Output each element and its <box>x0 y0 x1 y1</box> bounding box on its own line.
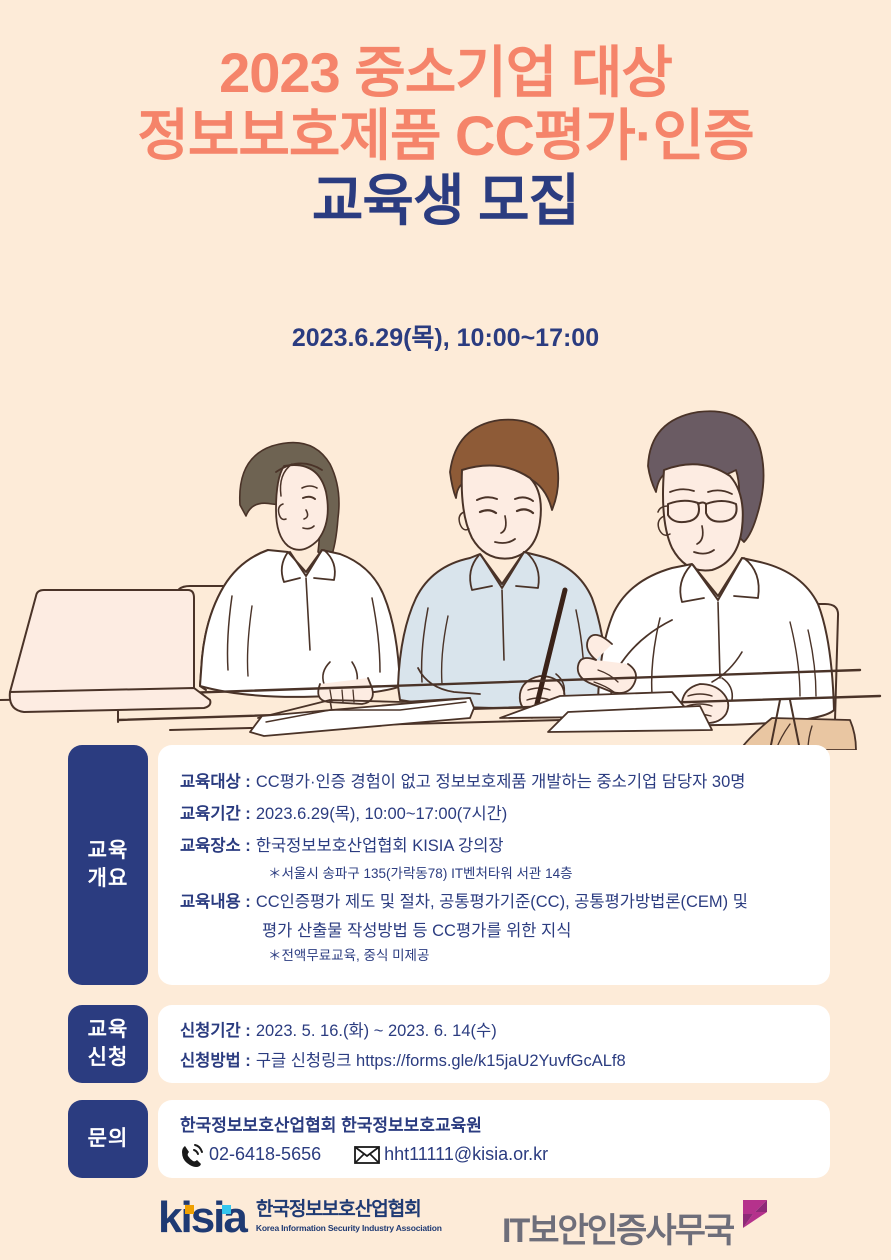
section-overview-label: 교육 개요 <box>68 745 148 985</box>
section-application-label: 교육 신청 <box>68 1005 148 1083</box>
section-application-card: 신청기간 : 2023. 5. 16.(화) ~ 2023. 6. 14(수) … <box>158 1005 830 1083</box>
section-contact-label-line1: 문의 <box>88 1125 129 1153</box>
title-line-1: 2023 중소기업 대상 <box>0 44 891 101</box>
section-overview-label-line1: 교육 <box>88 839 129 862</box>
kisia-name-english: Korea Information Security Industry Asso… <box>256 1223 442 1233</box>
overview-row-target: 교육대상 : CC평가·인증 경험이 없고 정보보호제품 개발하는 중소기업 담… <box>180 768 814 792</box>
itsec-wordmark: IT보안인증사무국 <box>502 1214 733 1248</box>
section-contact: 문의 한국정보보호산업협회 한국정보보호교육원 02-6418-5656 <box>68 1100 830 1178</box>
kisia-dot-orange-icon <box>185 1205 194 1214</box>
section-contact-label: 문의 <box>68 1100 148 1178</box>
section-application: 교육 신청 신청기간 : 2023. 5. 16.(화) ~ 2023. 6. … <box>68 1005 830 1083</box>
apply-row-method: 신청방법 : 구글 신청링크 https://forms.gle/k15jaU2… <box>180 1047 814 1071</box>
overview-row-content: 교육내용 : CC인증평가 제도 및 절차, 공통평가기준(CC), 공통평가방… <box>180 888 814 912</box>
contact-email[interactable]: hht11111@kisia.or.kr <box>353 1144 548 1166</box>
apply-period-value: 2023. 5. 16.(화) ~ 2023. 6. 14(수) <box>256 1017 814 1041</box>
kisia-wordmark-text: kisia <box>158 1193 246 1242</box>
overview-venue-key: 교육장소 : <box>180 832 251 856</box>
overview-venue-value: 한국정보보호산업협회 KISIA 강의장 <box>256 832 814 856</box>
overview-target-value: CC평가·인증 경험이 없고 정보보호제품 개발하는 중소기업 담당자 30명 <box>256 768 814 792</box>
contact-organization: 한국정보보호산업협회 한국정보보호교육원 <box>180 1111 814 1136</box>
apply-period-key: 신청기간 : <box>180 1017 251 1041</box>
overview-row-venue: 교육장소 : 한국정보보호산업협회 KISIA 강의장 <box>180 832 814 856</box>
event-datetime: 2023.6.29(목), 10:00~17:00 <box>0 318 891 354</box>
section-application-label-line1: 교육 <box>88 1018 129 1041</box>
kisia-wordmark: kisia <box>158 1199 246 1236</box>
overview-content-value: CC인증평가 제도 및 절차, 공통평가기준(CC), 공통평가방법론(CEM)… <box>256 888 814 912</box>
kisia-name-block: 한국정보보호산업협회 Korea Information Security In… <box>256 1194 442 1236</box>
overview-content-note: ＊전액무료교육, 중식 미제공 <box>268 944 814 964</box>
overview-content-key: 교육내용 : <box>180 888 251 912</box>
footer-logos: kisia 한국정보보호산업협회 Korea Information Secur… <box>0 1188 891 1260</box>
overview-period-value: 2023.6.29(목), 10:00~17:00(7시간) <box>256 800 814 824</box>
contact-details: 02-6418-5656 hht11111@kisia.or.kr <box>180 1142 814 1168</box>
phone-icon <box>180 1142 206 1168</box>
kisia-dot-cyan-icon <box>222 1205 231 1214</box>
overview-row-period: 교육기간 : 2023.6.29(목), 10:00~17:00(7시간) <box>180 800 814 824</box>
apply-method-value[interactable]: 구글 신청링크 https://forms.gle/k15jaU2YuvfGcA… <box>256 1047 814 1071</box>
section-overview: 교육 개요 교육대상 : CC평가·인증 경험이 없고 정보보호제품 개발하는 … <box>68 745 830 985</box>
apply-method-key: 신청방법 : <box>180 1047 251 1071</box>
poster-title: 2023 중소기업 대상 정보보호제품 CC평가·인증 교육생 모집 <box>0 44 891 229</box>
poster-root: 2023 중소기업 대상 정보보호제품 CC평가·인증 교육생 모집 2023.… <box>0 0 891 1260</box>
kisia-logo: kisia 한국정보보호산업협회 Korea Information Secur… <box>158 1194 442 1236</box>
section-overview-label-line2: 개요 <box>88 867 129 890</box>
kisia-name-korean: 한국정보보호산업협회 <box>256 1194 442 1221</box>
overview-venue-note: ＊서울시 송파구 135(가락동78) IT벤처타워 서관 14층 <box>268 862 814 882</box>
it-security-certification-office-logo: IT보안인증사무국 <box>502 1198 775 1248</box>
section-overview-card: 교육대상 : CC평가·인증 경험이 없고 정보보호제품 개발하는 중소기업 담… <box>158 745 830 985</box>
title-line-3: 교육생 모집 <box>0 172 891 229</box>
contact-phone[interactable]: 02-6418-5656 <box>180 1142 321 1168</box>
section-application-label-line2: 신청 <box>88 1046 129 1069</box>
overview-period-key: 교육기간 : <box>180 800 251 824</box>
envelope-icon <box>353 1144 381 1166</box>
overview-content-value-cont: 평가 산출물 작성방법 등 CC평가를 위한 지식 <box>262 917 814 941</box>
section-contact-card: 한국정보보호산업협회 한국정보보호교육원 02-6418-5656 <box>158 1100 830 1178</box>
overview-target-key: 교육대상 : <box>180 768 251 792</box>
title-line-2: 정보보호제품 CC평가·인증 <box>0 107 891 164</box>
contact-phone-number: 02-6418-5656 <box>209 1144 321 1165</box>
meeting-illustration <box>0 400 891 750</box>
itsec-ribbon-icon <box>735 1198 775 1242</box>
apply-row-period: 신청기간 : 2023. 5. 16.(화) ~ 2023. 6. 14(수) <box>180 1017 814 1041</box>
contact-email-address: hht11111@kisia.or.kr <box>384 1144 548 1165</box>
